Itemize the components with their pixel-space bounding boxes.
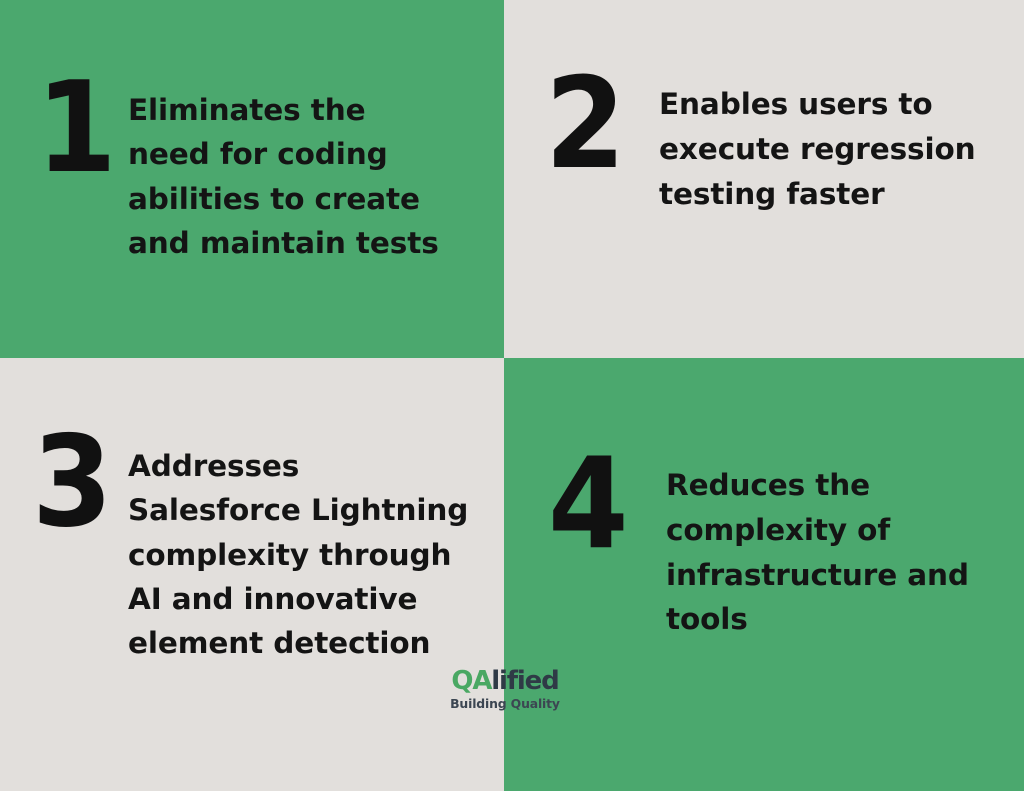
logo-wordmark: QAlified [446,668,564,694]
benefit-item-2: 2 Enables users to execute regression te… [545,70,1004,216]
benefit-text-2: Enables users to execute regression test… [659,82,1004,216]
benefit-item-1: 1 Eliminates the need for coding abiliti… [36,74,468,265]
benefit-text-3: Addresses Salesforce Lightning complexit… [128,444,496,665]
infographic-canvas: 1 Eliminates the need for coding abiliti… [0,0,1024,791]
benefit-number-4: 4 [548,450,647,558]
benefit-number-1: 1 [36,74,121,182]
benefit-text-4: Reduces the complexity of infrastructure… [666,463,996,642]
benefit-number-2: 2 [545,70,637,178]
benefit-number-3: 3 [32,428,120,536]
benefit-item-4: 4 Reduces the complexity of infrastructu… [548,450,996,642]
logo-wordmark-lified: lified [491,666,558,696]
logo-wordmark-qa: QA [451,666,491,696]
benefit-text-1: Eliminates the need for coding abilities… [128,88,468,265]
benefit-item-3: 3 Addresses Salesforce Lightning complex… [32,428,496,665]
qalified-logo: QAlified Building Quality [446,668,564,710]
logo-tagline: Building Quality [446,698,564,710]
